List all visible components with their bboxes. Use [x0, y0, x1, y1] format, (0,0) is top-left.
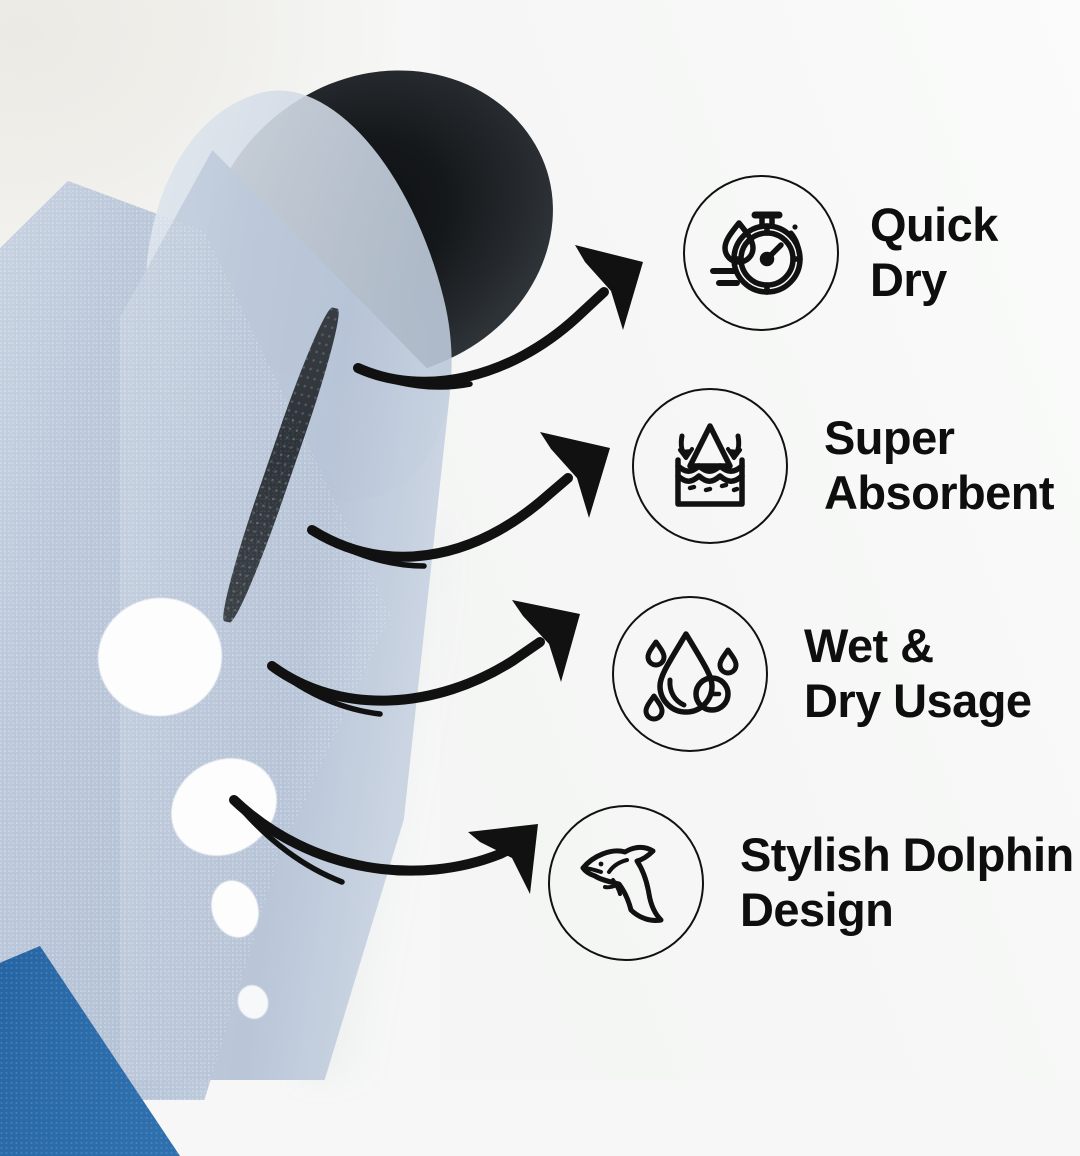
- stopwatch-droplet-icon: [701, 193, 821, 313]
- feature-super-absorbent[interactable]: Super Absorbent: [632, 388, 1054, 544]
- feature-icon-circle: [612, 596, 768, 752]
- infographic-canvas: Quick Dry Super Absorbent: [0, 0, 1080, 1080]
- feature-icon-circle: [683, 175, 839, 331]
- feature-wet-dry-usage[interactable]: Wet & Dry Usage: [612, 596, 1031, 752]
- feature-label: Super Absorbent: [824, 411, 1054, 520]
- droplet-clock-icon: [634, 618, 746, 730]
- feature-quick-dry[interactable]: Quick Dry: [683, 175, 998, 331]
- feature-label: Wet & Dry Usage: [804, 619, 1031, 728]
- feature-label: Quick Dry: [870, 198, 998, 307]
- feature-stylish-dolphin-design[interactable]: Stylish Dolphin Design: [548, 805, 1074, 961]
- feature-icon-circle: [632, 388, 788, 544]
- product-photo: [0, 0, 600, 1080]
- droplet-absorb-layers-icon: [654, 410, 766, 522]
- feature-icon-circle: [548, 805, 704, 961]
- feature-label: Stylish Dolphin Design: [740, 828, 1074, 937]
- dolphin-icon: [567, 824, 685, 942]
